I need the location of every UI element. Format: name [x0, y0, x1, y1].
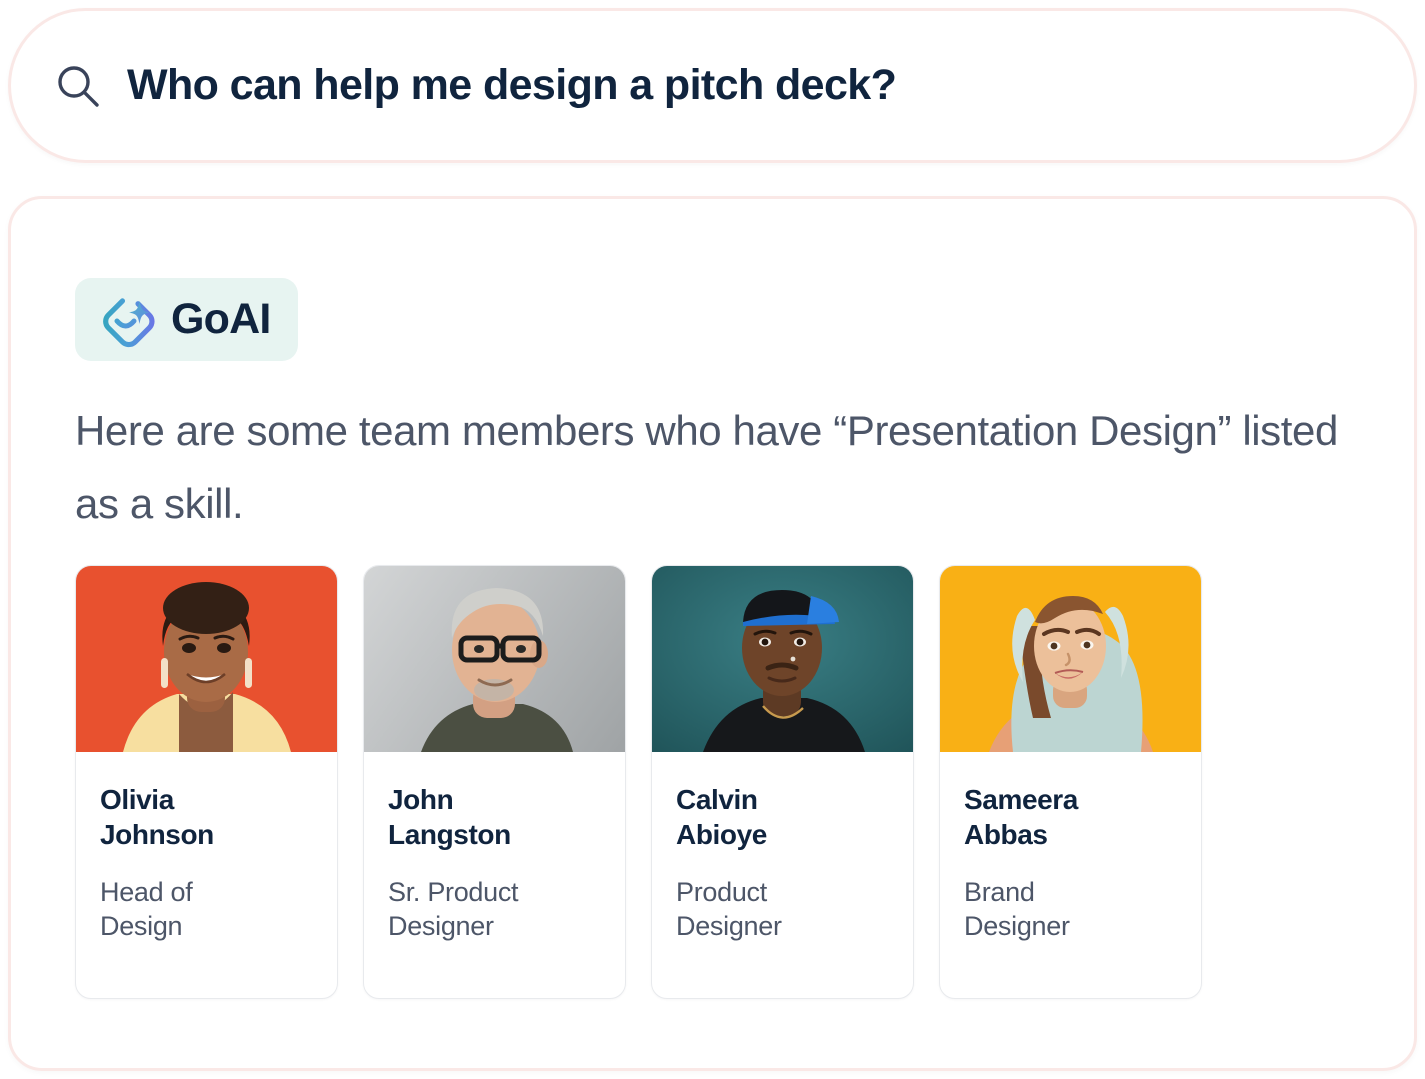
goai-label: GoAI [171, 298, 271, 341]
portrait-john-langston [364, 566, 625, 752]
person-card-list: OliviaJohnson Head ofDesign [75, 565, 1202, 999]
person-info: CalvinAbioye ProductDesigner [652, 752, 913, 998]
person-role: BrandDesigner [964, 875, 1144, 943]
portrait-calvin-abioye [652, 566, 913, 752]
search-bar[interactable]: Who can help me design a pitch deck? [8, 8, 1417, 163]
person-info: SameeraAbbas BrandDesigner [940, 752, 1201, 998]
person-name: SameeraAbbas [964, 782, 1134, 853]
search-icon [55, 63, 127, 109]
search-input[interactable]: Who can help me design a pitch deck? [127, 61, 896, 110]
person-info: OliviaJohnson Head ofDesign [76, 752, 337, 998]
person-name: JohnLangston [388, 782, 558, 853]
assistant-answer-text: Here are some team members who have “Pre… [75, 395, 1355, 540]
person-role: Sr. ProductDesigner [388, 875, 568, 943]
person-role: Head ofDesign [100, 875, 280, 943]
portrait-sameera-abbas [940, 566, 1201, 752]
answer-panel: GoAI Here are some team members who have… [8, 196, 1417, 1071]
person-name: CalvinAbioye [676, 782, 846, 853]
portrait-olivia-johnson [76, 566, 337, 752]
person-card[interactable]: JohnLangston Sr. ProductDesigner [363, 565, 626, 999]
person-role: ProductDesigner [676, 875, 856, 943]
goai-sparkle-icon [97, 291, 155, 349]
goai-badge: GoAI [75, 278, 298, 361]
person-name: OliviaJohnson [100, 782, 270, 853]
person-card[interactable]: SameeraAbbas BrandDesigner [939, 565, 1202, 999]
person-card[interactable]: CalvinAbioye ProductDesigner [651, 565, 914, 999]
person-info: JohnLangston Sr. ProductDesigner [364, 752, 625, 998]
person-card[interactable]: OliviaJohnson Head ofDesign [75, 565, 338, 999]
